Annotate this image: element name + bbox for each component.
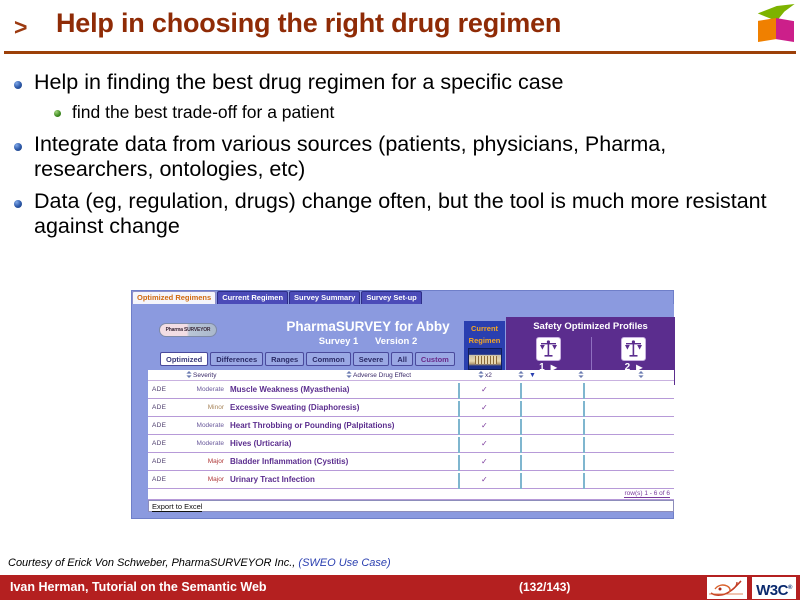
column-header-x2[interactable]: x2 [478, 371, 492, 379]
bullet-dot-icon [14, 143, 22, 151]
embedded-app-screenshot: Optimized Regimens Current Regimen Surve… [131, 290, 674, 519]
page-title: Help in choosing the right drug regimen [56, 8, 561, 39]
row-risk-bar-cell[interactable] [583, 420, 643, 432]
filter-common-button[interactable]: Common [306, 352, 351, 366]
filter-differences-button[interactable]: Differences [210, 352, 263, 366]
cube-right-face [776, 18, 794, 42]
table-row[interactable]: ADEMinorExcessive Sweating (Diaphoresis)… [148, 399, 674, 417]
sort-updown-icon[interactable] [346, 371, 352, 378]
export-bar: Export to Excel [148, 500, 674, 512]
slide-footer-bar: Ivan Herman, Tutorial on the Semantic We… [0, 575, 800, 600]
row-risk-bar-cell[interactable] [458, 402, 518, 414]
row-severity: Major [168, 458, 224, 465]
list-item: Help in finding the best drug regimen fo… [0, 70, 800, 95]
row-risk-bar-cell[interactable] [458, 384, 518, 396]
row-effect-name[interactable]: Urinary Tract Infection [230, 475, 315, 484]
survey-version-label: Version 2 [375, 336, 417, 347]
filter-severe-button[interactable]: Severe [353, 352, 390, 366]
filter-custom-button[interactable]: Custom [415, 352, 455, 366]
row-effect-name[interactable]: Excessive Sweating (Diaphoresis) [230, 403, 359, 412]
row-risk-bar-cell[interactable] [583, 474, 643, 486]
row-ade-tag: ADE [152, 422, 166, 429]
w3c-cube-logo-icon [757, 4, 795, 44]
column-header-profile2-sort[interactable] [638, 371, 645, 379]
tab-current-regimen[interactable]: Current Regimen [217, 291, 288, 304]
row-ade-tag: ADE [152, 440, 166, 447]
table-row[interactable]: ADEMajorUrinary Tract Infection✓ [148, 471, 674, 489]
header-chevron-marker: > [14, 14, 27, 41]
filter-optimized-button[interactable]: Optimized [160, 352, 208, 366]
row-risk-bar-cell[interactable] [520, 420, 580, 432]
adverse-effects-table: Severity Adverse Drug Effect x2 ▼ [148, 370, 674, 512]
sort-updown-icon[interactable] [638, 371, 644, 378]
row-effect-name[interactable]: Heart Throbbing or Pounding (Palpitation… [230, 421, 394, 430]
row-effect-name[interactable]: Bladder Inflammation (Cystitis) [230, 457, 348, 466]
w3c-logo-superscript: ® [788, 585, 792, 591]
row-severity: Moderate [168, 422, 224, 429]
list-item: Data (eg, regulation, drugs) change ofte… [0, 189, 800, 239]
table-footer: row(s) 1 - 6 of 6 [148, 489, 674, 500]
app-tab-strip: Optimized Regimens Current Regimen Surve… [132, 291, 675, 304]
bullet-dot-icon [14, 200, 22, 208]
pill-logo-label: Pharma SURVEYOR [160, 324, 216, 336]
row-ade-tag: ADE [152, 404, 166, 411]
app-header-band: Pharma SURVEYOR PharmaSURVEY for Abby Su… [133, 304, 674, 372]
w3c-logo-label: W3C® [752, 577, 796, 599]
courtesy-prefix: Courtesy of Erick Von Schweber, PharmaSU… [8, 557, 295, 569]
arabic-calligraphy-logo-icon [707, 577, 747, 599]
export-to-excel-link[interactable]: Export to Excel [152, 502, 202, 512]
table-row[interactable]: ADEMajorBladder Inflammation (Cystitis)✓ [148, 453, 674, 471]
footer-page-number: (132/143) [519, 580, 570, 594]
row-risk-bar-cell[interactable] [458, 474, 518, 486]
sub-bullet-dot-icon [54, 110, 61, 117]
w3c-logo-text: W3C [756, 582, 788, 599]
row-ade-tag: ADE [152, 458, 166, 465]
row-risk-bar-cell[interactable] [520, 456, 580, 468]
row-severity: Moderate [168, 440, 224, 447]
w3c-logo: W3C® [752, 577, 796, 599]
table-row[interactable]: ADEModerateHeart Throbbing or Pounding (… [148, 417, 674, 435]
row-effect-name[interactable]: Hives (Urticaria) [230, 439, 291, 448]
row-risk-bar-cell[interactable] [520, 402, 580, 414]
safety-optimized-profiles-title: Safety Optimized Profiles [506, 321, 675, 332]
row-risk-bar-cell[interactable] [583, 384, 643, 396]
row-risk-bar-cell[interactable] [520, 384, 580, 396]
row-effect-name[interactable]: Muscle Weakness (Myasthenia) [230, 385, 349, 394]
row-risk-bar-cell[interactable] [458, 420, 518, 432]
cube-left-face [758, 18, 776, 42]
row-risk-bar-cell[interactable] [458, 456, 518, 468]
row-count-label[interactable]: row(s) 1 - 6 of 6 [624, 490, 670, 498]
tab-survey-setup[interactable]: Survey Set-up [361, 291, 421, 304]
app-title: PharmaSURVEY for Abby [233, 319, 503, 334]
funnel-icon[interactable]: ▼ [529, 372, 536, 379]
list-item: Integrate data from various sources (pat… [0, 132, 800, 182]
filter-all-button[interactable]: All [391, 352, 413, 366]
list-item: find the best trade-off for a patient [0, 102, 800, 123]
column-header-adverse-drug-effect[interactable]: Adverse Drug Effect [346, 371, 411, 379]
app-subtitle: Survey 1 Version 2 [233, 336, 503, 347]
list-item-label: find the best trade-off for a patient [72, 102, 334, 123]
table-header-row: Severity Adverse Drug Effect x2 ▼ [148, 370, 674, 381]
filter-button-bar: Optimized Differences Ranges Common Seve… [160, 352, 457, 366]
column-header-severity[interactable]: Severity [186, 371, 216, 379]
row-ade-tag: ADE [152, 476, 166, 483]
column-header-severity-label: Severity [193, 372, 216, 379]
current-regimen-label-line1: Current [464, 321, 505, 333]
sort-updown-icon[interactable] [478, 371, 484, 378]
pill-capsule-icon [468, 348, 502, 370]
current-regimen-label-line2: Regimen [464, 333, 505, 345]
courtesy-usecase: (SWEO Use Case) [298, 557, 390, 569]
tab-survey-summary[interactable]: Survey Summary [289, 291, 360, 304]
table-row[interactable]: ADEModerateMuscle Weakness (Myasthenia)✓ [148, 381, 674, 399]
tab-optimized-regimens[interactable]: Optimized Regimens [132, 291, 216, 304]
bullet-list: Help in finding the best drug regimen fo… [0, 70, 800, 246]
row-severity: Minor [168, 404, 224, 411]
row-risk-bar-cell[interactable] [458, 438, 518, 450]
column-header-profile1-sort[interactable] [578, 371, 585, 379]
header-divider [4, 51, 796, 54]
list-item-label: Help in finding the best drug regimen fo… [34, 70, 563, 95]
row-risk-bar-cell[interactable] [520, 438, 580, 450]
table-body: ADEModerateMuscle Weakness (Myasthenia)✓… [148, 381, 674, 489]
bullet-dot-icon [14, 81, 22, 89]
balance-scale-icon [536, 337, 561, 361]
filter-ranges-button[interactable]: Ranges [265, 352, 304, 366]
row-severity: Major [168, 476, 224, 483]
row-risk-bar-cell[interactable] [583, 456, 643, 468]
row-risk-bar-cell[interactable] [583, 402, 643, 414]
column-header-current-sort[interactable]: ▼ [518, 371, 536, 379]
sort-updown-icon[interactable] [518, 371, 524, 378]
row-risk-bar-cell[interactable] [583, 438, 643, 450]
sort-updown-icon[interactable] [186, 371, 192, 378]
column-header-x2-label: x2 [485, 372, 492, 379]
list-item-label: Integrate data from various sources (pat… [34, 132, 774, 182]
pharmasurveyor-pill-logo-icon: Pharma SURVEYOR [159, 323, 217, 337]
row-risk-bar-cell[interactable] [520, 474, 580, 486]
slide-header: > Help in choosing the right drug regime… [0, 0, 800, 54]
footer-title: Ivan Herman, Tutorial on the Semantic We… [10, 580, 267, 594]
table-row[interactable]: ADEModerateHives (Urticaria)✓ [148, 435, 674, 453]
sort-updown-icon[interactable] [578, 371, 584, 378]
survey-number-label: Survey 1 [319, 336, 359, 347]
row-severity: Moderate [168, 386, 224, 393]
list-item-label: Data (eg, regulation, drugs) change ofte… [34, 189, 774, 239]
balance-scale-icon [621, 337, 646, 361]
row-ade-tag: ADE [152, 386, 166, 393]
column-header-ade-label: Adverse Drug Effect [353, 372, 411, 379]
courtesy-note: Courtesy of Erick Von Schweber, PharmaSU… [8, 557, 391, 569]
